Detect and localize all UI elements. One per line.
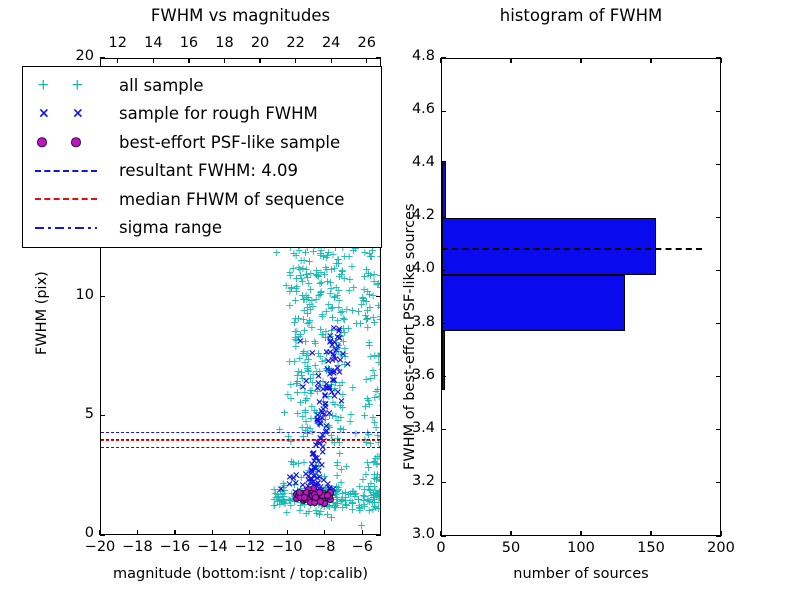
scatter-point-all <box>370 352 379 359</box>
histogram-top-xtick <box>650 58 651 63</box>
scatter-point-rough <box>315 399 323 406</box>
scatter-point-all <box>314 350 323 357</box>
scatter-point-all <box>322 493 331 500</box>
scatter-point-rough <box>302 471 310 478</box>
scatter-point-rough <box>328 490 336 497</box>
scatter-point-rough <box>335 328 343 335</box>
scatter-point-all <box>367 253 376 260</box>
scatter-point-all <box>331 379 340 386</box>
scatter-point-all <box>363 324 372 331</box>
scatter-point-all <box>289 250 298 257</box>
scatter-point-rough <box>330 368 338 375</box>
histogram-ytick-right <box>716 164 721 165</box>
scatter-point-all <box>305 317 314 324</box>
scatter-point-all <box>374 492 380 499</box>
scatter-point-rough <box>319 386 327 393</box>
scatter-top-xticklabel: 18 <box>206 35 242 51</box>
scatter-point-all <box>325 412 334 419</box>
scatter-point-all <box>276 486 285 493</box>
scatter-point-all <box>323 511 332 518</box>
legend-item-label: median FHWM of sequence <box>119 190 344 209</box>
scatter-point-all <box>313 496 322 503</box>
scatter-point-all <box>348 384 357 391</box>
scatter-point-all <box>308 303 317 310</box>
scatter-point-all <box>304 490 313 497</box>
scatter-point-rough <box>334 343 342 350</box>
scatter-point-all <box>355 505 364 512</box>
histogram-yticklabel: 4.4 <box>393 154 435 170</box>
scatter-point-rough <box>309 479 317 486</box>
scatter-point-all <box>298 413 307 420</box>
scatter-point-all <box>365 498 374 505</box>
scatter-point-all <box>297 369 306 376</box>
histogram-axes[interactable] <box>441 58 721 536</box>
scatter-point-all <box>330 504 339 511</box>
scatter-point-all <box>274 493 283 500</box>
scatter-point-all <box>287 490 296 497</box>
scatter-point-all <box>376 313 380 320</box>
scatter-point-all <box>313 272 322 279</box>
scatter-point-all <box>319 331 328 338</box>
scatter-point-all <box>333 417 342 424</box>
scatter-point-psf <box>320 498 327 505</box>
scatter-point-rough <box>306 479 314 486</box>
scatter-point-all <box>376 284 380 291</box>
scatter-point-all <box>326 485 335 492</box>
scatter-point-all <box>340 345 349 352</box>
histogram-ytick-right <box>716 57 721 58</box>
scatter-point-all <box>377 460 380 467</box>
scatter-point-rough <box>313 455 321 462</box>
figure-canvas: FWHM vs magnitudes FWHM (pix) magnitude … <box>0 0 800 600</box>
scatter-point-all <box>327 327 336 334</box>
scatter-point-all <box>362 298 371 305</box>
scatter-point-all <box>290 319 299 326</box>
scatter-point-all <box>349 488 358 495</box>
scatter-point-all <box>279 484 288 491</box>
scatter-point-all <box>344 491 353 498</box>
scatter-point-all <box>348 499 357 506</box>
scatter-point-psf <box>296 493 303 500</box>
scatter-point-all <box>275 498 284 505</box>
scatter-point-all <box>305 258 314 265</box>
scatter-point-all <box>338 268 347 275</box>
scatter-point-all <box>320 401 329 408</box>
scatter-point-all <box>322 367 331 374</box>
scatter-point-all <box>302 489 311 496</box>
scatter-point-rough <box>335 326 343 333</box>
scatter-point-all <box>296 331 305 338</box>
scatter-yticklabel: 20 <box>54 48 94 64</box>
scatter-point-all <box>363 459 372 466</box>
scatter-point-psf <box>310 485 317 492</box>
scatter-point-all <box>366 272 375 279</box>
scatter-point-all <box>341 489 350 496</box>
scatter-point-all <box>337 271 346 278</box>
scatter-point-all <box>370 458 379 465</box>
scatter-point-all <box>300 327 309 334</box>
scatter-point-all <box>325 424 334 431</box>
scatter-point-psf <box>303 493 310 500</box>
scatter-point-rough <box>304 483 312 490</box>
scatter-point-psf <box>297 493 304 500</box>
scatter-point-rough <box>292 480 300 487</box>
scatter-point-all <box>374 505 380 512</box>
scatter-top-xticklabel: 24 <box>313 35 349 51</box>
histogram-ytick <box>441 217 446 218</box>
scatter-point-all <box>322 254 331 261</box>
scatter-point-all <box>327 367 336 374</box>
legend-item[interactable]: ++all sample <box>23 71 381 99</box>
scatter-point-all <box>304 508 313 515</box>
scatter-point-all <box>328 314 337 321</box>
scatter-point-all <box>295 247 304 254</box>
scatter-point-all <box>378 486 381 493</box>
dash-dot-line-icon <box>35 227 97 229</box>
scatter-point-all <box>285 269 294 276</box>
scatter-point-all <box>333 500 342 507</box>
scatter-point-all <box>292 380 301 387</box>
scatter-point-all <box>302 271 311 278</box>
scatter-point-all <box>341 353 350 360</box>
scatter-point-rough <box>319 406 327 413</box>
scatter-point-rough <box>310 450 318 457</box>
scatter-point-rough <box>316 440 324 447</box>
scatter-point-all <box>369 491 378 498</box>
histogram-yticklabel: 3.0 <box>393 526 435 542</box>
scatter-point-all <box>302 395 311 402</box>
scatter-point-all <box>342 502 351 509</box>
scatter-point-all <box>350 493 359 500</box>
scatter-point-all <box>363 497 372 504</box>
scatter-point-all <box>320 473 329 480</box>
scatter-point-rough <box>326 339 334 346</box>
scatter-point-rough <box>309 486 317 493</box>
histogram-plot-area <box>442 59 720 535</box>
scatter-point-all <box>307 297 316 304</box>
scatter-point-all <box>297 275 306 282</box>
histogram-ytick <box>441 535 446 536</box>
legend-item[interactable]: sigma range <box>23 214 381 242</box>
legend-item[interactable]: best-effort PSF-like sample <box>23 128 381 156</box>
scatter-point-all <box>321 416 330 423</box>
scatter-point-all <box>302 266 311 273</box>
scatter-point-all <box>324 301 333 308</box>
scatter-point-all <box>364 483 373 490</box>
scatter-point-all <box>318 378 327 385</box>
scatter-top-xticklabel: 22 <box>278 35 314 51</box>
scatter-point-all <box>291 328 300 335</box>
scatter-point-all <box>328 492 337 499</box>
scatter-point-all <box>316 291 325 298</box>
scatter-point-rough <box>313 417 321 424</box>
scatter-point-rough <box>320 411 328 418</box>
scatter-point-psf <box>315 492 322 499</box>
scatter-point-all <box>377 495 380 502</box>
scatter-point-all <box>370 319 379 326</box>
legend: ++all sample××sample for rough FWHMbest-… <box>22 66 382 248</box>
scatter-point-all <box>344 325 353 332</box>
scatter-point-all <box>378 402 380 409</box>
scatter-point-all <box>366 487 375 494</box>
scatter-point-all <box>332 260 341 267</box>
scatter-point-all <box>294 460 303 467</box>
cross-icon: × <box>38 106 50 121</box>
scatter-point-all <box>317 416 326 423</box>
scatter-point-all <box>310 490 319 497</box>
scatter-point-all <box>372 490 380 497</box>
histogram-ytick-right <box>716 270 721 271</box>
scatter-point-all <box>318 311 327 318</box>
scatter-point-all <box>279 480 288 487</box>
scatter-point-all <box>363 315 372 322</box>
scatter-point-all <box>270 502 279 509</box>
scatter-top-xticklabel: 12 <box>100 35 136 51</box>
scatter-point-psf <box>308 493 315 500</box>
scatter-ytick <box>100 57 105 58</box>
scatter-point-all <box>372 424 381 431</box>
histogram-bar[interactable] <box>442 161 446 218</box>
scatter-point-all <box>352 320 361 327</box>
histogram-ytick-right <box>716 111 721 112</box>
scatter-point-all <box>288 474 297 481</box>
scatter-xticklabel: −16 <box>155 539 195 555</box>
scatter-point-all <box>273 491 282 498</box>
dashed-line-icon <box>35 198 97 200</box>
scatter-point-all <box>366 480 375 487</box>
scatter-point-rough <box>330 339 338 346</box>
scatter-point-psf <box>297 491 304 498</box>
scatter-point-rough <box>328 389 336 396</box>
scatter-point-rough <box>318 462 326 469</box>
reference-line-median <box>101 440 380 441</box>
scatter-point-psf <box>323 492 330 499</box>
scatter-point-rough <box>304 473 312 480</box>
scatter-point-rough <box>330 377 338 384</box>
scatter-point-all <box>310 498 319 505</box>
histogram-ytick-right <box>716 323 721 324</box>
histogram-yticklabel: 4.2 <box>393 207 435 223</box>
scatter-point-all <box>378 496 381 503</box>
scatter-point-all <box>372 493 380 500</box>
legend-item[interactable]: ××sample for rough FWHM <box>23 100 381 128</box>
scatter-point-all <box>376 272 380 279</box>
scatter-point-rough <box>322 423 330 430</box>
scatter-top-xtick <box>224 58 225 63</box>
legend-item-label: sample for rough FWHM <box>119 104 318 123</box>
scatter-point-all <box>322 308 331 315</box>
scatter-point-all <box>345 287 354 294</box>
scatter-point-psf <box>301 494 308 501</box>
scatter-point-all <box>287 284 296 291</box>
scatter-point-all <box>288 495 297 502</box>
scatter-point-all <box>369 489 378 496</box>
scatter-point-all <box>328 304 337 311</box>
scatter-point-all <box>279 499 288 506</box>
scatter-point-all <box>298 375 307 382</box>
histogram-ytick <box>441 323 446 324</box>
scatter-point-all <box>333 496 342 503</box>
scatter-point-all <box>270 502 279 509</box>
scatter-point-all <box>370 419 379 426</box>
scatter-point-rough <box>310 458 318 465</box>
scatter-point-all <box>311 340 320 347</box>
histogram-top-xtick <box>510 58 511 63</box>
scatter-point-all <box>311 362 320 369</box>
scatter-point-rough <box>308 451 316 458</box>
scatter-point-rough <box>292 472 300 479</box>
scatter-point-rough <box>304 477 312 484</box>
scatter-point-all <box>270 496 279 503</box>
scatter-point-all <box>330 293 339 300</box>
scatter-point-all <box>365 291 374 298</box>
scatter-point-all <box>327 305 336 312</box>
scatter-point-all <box>379 405 380 412</box>
legend-item-label: best-effort PSF-like sample <box>119 133 340 152</box>
scatter-point-all <box>287 285 296 292</box>
scatter-point-rough <box>326 486 334 493</box>
scatter-xtick <box>249 530 250 535</box>
scatter-point-rough <box>314 380 322 387</box>
scatter-point-all <box>284 496 293 503</box>
scatter-point-all <box>285 497 294 504</box>
scatter-point-all <box>334 287 343 294</box>
scatter-point-all <box>316 252 325 259</box>
scatter-point-all <box>293 410 302 417</box>
scatter-point-rough <box>322 381 330 388</box>
histogram-yticklabel: 3.6 <box>393 367 435 383</box>
histogram-xticklabel: 50 <box>489 540 533 556</box>
scatter-point-all <box>337 498 346 505</box>
scatter-point-all <box>375 453 381 460</box>
histogram-reference-line <box>442 248 702 250</box>
scatter-point-all <box>346 497 355 504</box>
scatter-point-all <box>317 502 326 509</box>
scatter-point-all <box>285 302 294 309</box>
scatter-point-all <box>365 342 374 349</box>
scatter-point-all <box>295 355 304 362</box>
histogram-title: histogram of FWHM <box>441 6 721 25</box>
scatter-point-all <box>304 294 313 301</box>
scatter-point-rough <box>334 389 342 396</box>
scatter-point-all <box>330 385 339 392</box>
scatter-point-all <box>292 337 301 344</box>
scatter-point-all <box>373 453 380 460</box>
scatter-point-rough <box>326 333 334 340</box>
scatter-point-all <box>286 497 295 504</box>
histogram-yticklabel: 3.2 <box>393 473 435 489</box>
histogram-bar[interactable] <box>442 275 625 331</box>
scatter-point-all <box>280 487 289 494</box>
scatter-point-all <box>318 358 327 365</box>
histogram-bar[interactable] <box>442 331 445 389</box>
scatter-point-all <box>318 313 327 320</box>
scatter-point-all <box>318 331 327 338</box>
scatter-point-all <box>321 328 330 335</box>
scatter-point-all <box>273 498 282 505</box>
scatter-point-rough <box>309 451 317 458</box>
scatter-point-all <box>362 316 371 323</box>
scatter-point-all <box>309 497 318 504</box>
scatter-point-all <box>334 484 343 491</box>
scatter-point-all <box>341 497 350 504</box>
scatter-point-all <box>300 489 309 496</box>
scatter-point-all <box>372 474 380 481</box>
scatter-point-all <box>298 491 307 498</box>
scatter-point-all <box>294 264 303 271</box>
scatter-point-psf <box>308 492 315 499</box>
scatter-point-rough <box>311 455 319 462</box>
scatter-point-all <box>306 306 315 313</box>
scatter-point-all <box>303 274 312 281</box>
scatter-point-all <box>334 348 343 355</box>
scatter-point-all <box>322 423 331 430</box>
scatter-point-all <box>358 295 367 302</box>
scatter-point-all <box>373 471 380 478</box>
scatter-point-all <box>369 314 378 321</box>
scatter-point-all <box>276 488 285 495</box>
scatter-point-all <box>332 488 341 495</box>
scatter-point-all <box>333 459 342 466</box>
scatter-point-all <box>366 253 375 260</box>
scatter-xtick <box>174 530 175 535</box>
histogram-ytick <box>441 270 446 271</box>
scatter-xticklabel: −10 <box>267 539 307 555</box>
scatter-point-all <box>306 387 315 394</box>
scatter-point-rough <box>308 350 316 357</box>
legend-item[interactable]: resultant FWHM: 4.09 <box>23 157 381 185</box>
scatter-point-rough <box>313 385 321 392</box>
scatter-point-all <box>368 367 377 374</box>
scatter-point-rough <box>313 487 321 494</box>
legend-item[interactable]: median FHWM of sequence <box>23 185 381 213</box>
scatter-point-all <box>331 491 340 498</box>
scatter-point-all <box>321 488 330 495</box>
scatter-point-all <box>332 483 341 490</box>
scatter-point-all <box>289 461 298 468</box>
scatter-point-rough <box>324 481 332 488</box>
scatter-point-psf <box>306 490 313 497</box>
scatter-point-all <box>299 497 308 504</box>
histogram-ytick <box>441 482 446 483</box>
scatter-point-psf <box>311 491 318 498</box>
scatter-point-psf <box>305 486 312 493</box>
scatter-xlabel: magnitude (bottom:isnt / top:calib) <box>100 566 381 582</box>
scatter-point-psf <box>312 494 319 501</box>
scatter-point-all <box>370 271 379 278</box>
scatter-point-all <box>298 265 307 272</box>
scatter-point-all <box>286 502 295 509</box>
scatter-point-all <box>331 413 340 420</box>
scatter-point-all <box>305 319 314 326</box>
scatter-point-rough <box>309 486 317 493</box>
scatter-point-all <box>308 486 317 493</box>
scatter-point-all <box>366 353 375 360</box>
scatter-point-all <box>307 387 316 394</box>
scatter-point-all <box>334 486 343 493</box>
scatter-xticklabel: −12 <box>230 539 270 555</box>
scatter-point-all <box>331 502 340 509</box>
scatter-point-all <box>296 272 305 279</box>
scatter-point-all <box>310 489 319 496</box>
scatter-point-psf <box>316 489 323 496</box>
scatter-point-rough <box>321 429 329 436</box>
scatter-point-all <box>340 329 349 336</box>
scatter-point-rough <box>308 469 316 476</box>
scatter-point-rough <box>330 353 338 360</box>
scatter-point-all <box>307 403 316 410</box>
scatter-point-all <box>300 257 309 264</box>
